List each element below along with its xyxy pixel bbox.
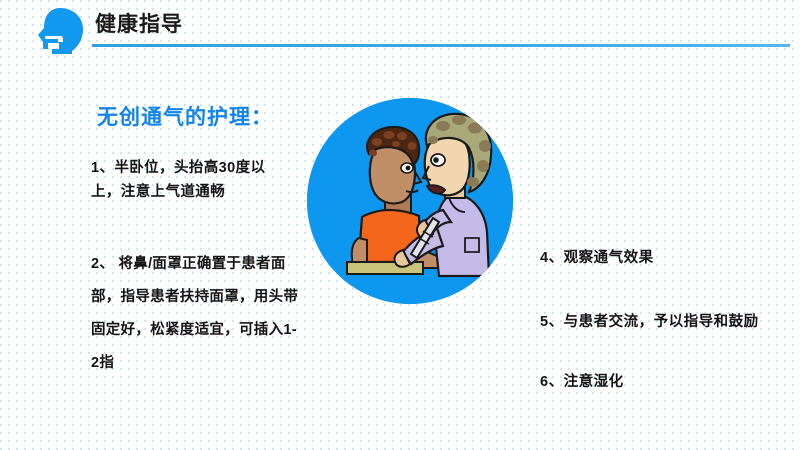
list-item-1: 1、半卧位，头抬高30度以上，注意上气道通畅 bbox=[91, 156, 277, 204]
nurse-and-patient-illustration bbox=[307, 98, 513, 304]
list-item-2: 2、 将鼻/面罩正确置于患者面部，指导患者扶持面罩，用头带固定好，松紧度适宜，可… bbox=[91, 248, 303, 380]
list-item-6: 6、注意湿化 bbox=[540, 370, 624, 394]
section-title: 无创通气的护理： bbox=[97, 101, 273, 131]
slide-canvas: 健康指导 无创通气的护理： 1、半卧位，头抬高30度以上，注意上气道通畅 2、 … bbox=[0, 0, 800, 450]
header-divider-rule bbox=[92, 44, 790, 47]
head-profile-icon bbox=[32, 6, 86, 56]
list-item-5: 5、与患者交流，予以指导和鼓励 bbox=[540, 310, 759, 334]
page-title: 健康指导 bbox=[95, 11, 183, 39]
list-item-4: 4、观察通气效果 bbox=[540, 246, 654, 270]
